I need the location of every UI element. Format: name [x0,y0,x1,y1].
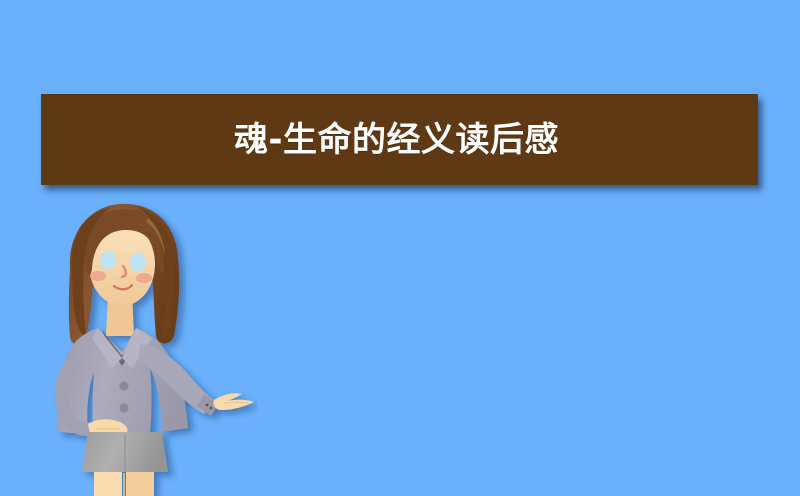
title-banner: 魂-生命的经义读后感 [41,94,758,185]
cuff-button-1 [206,404,209,407]
blush-left [90,271,106,281]
eye-right [130,253,146,272]
leg-left [94,472,122,496]
jacket-button-bottom [119,403,128,412]
blush-right [136,273,152,283]
woman-presenting-illustration [28,196,258,496]
slide-canvas: 魂-生命的经义读后感 [0,0,800,496]
eye-left [100,251,116,270]
figure-group [55,204,254,496]
hand-right [213,393,254,410]
leg-right [126,472,154,496]
jacket-button-top [119,381,128,390]
page-title: 魂-生命的经义读后感 [234,123,559,157]
cuff-button-2 [210,407,213,410]
